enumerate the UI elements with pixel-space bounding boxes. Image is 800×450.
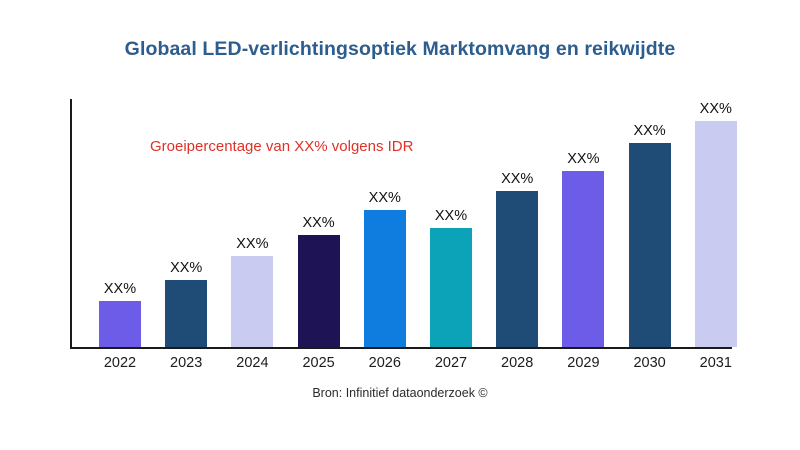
- x-tick-label: 2031: [676, 355, 756, 371]
- bar[interactable]: [562, 171, 604, 347]
- bar-group: XX%: [496, 191, 538, 347]
- bar-value-label: XX%: [86, 281, 154, 297]
- bar-value-label: XX%: [417, 208, 485, 224]
- bar-group: XX%: [364, 210, 406, 347]
- bar-value-label: XX%: [218, 236, 286, 252]
- bar[interactable]: [695, 121, 737, 347]
- bar[interactable]: [165, 280, 207, 347]
- bar-group: XX%: [629, 143, 671, 347]
- page-title: Globaal LED-verlichtingsoptiek Marktomva…: [0, 38, 800, 61]
- bar-group: XX%: [562, 171, 604, 347]
- bar-value-label: XX%: [483, 171, 551, 187]
- bar-group: XX%: [695, 121, 737, 347]
- bar-group: XX%: [165, 280, 207, 347]
- bar[interactable]: [629, 143, 671, 347]
- bar-value-label: XX%: [285, 215, 353, 231]
- chart-page: Globaal LED-verlichtingsoptiek Marktomva…: [0, 0, 800, 450]
- bar[interactable]: [99, 301, 141, 347]
- bar-group: XX%: [298, 235, 340, 347]
- bar[interactable]: [430, 228, 472, 347]
- bar-value-label: XX%: [616, 123, 684, 139]
- bar-value-label: XX%: [152, 260, 220, 276]
- bar[interactable]: [364, 210, 406, 347]
- bar[interactable]: [231, 256, 273, 347]
- bar-group: XX%: [430, 228, 472, 347]
- y-axis-line: [70, 99, 72, 349]
- bar-group: XX%: [99, 301, 141, 347]
- plot-area: XX%XX%XX%XX%XX%XX%XX%XX%XX%XX%: [70, 99, 732, 349]
- bar[interactable]: [496, 191, 538, 347]
- source-note: Bron: Infinitief dataonderzoek ©: [0, 386, 800, 400]
- bar-value-label: XX%: [351, 190, 419, 206]
- bar[interactable]: [298, 235, 340, 347]
- bar-group: XX%: [231, 256, 273, 347]
- bar-value-label: XX%: [549, 151, 617, 167]
- x-axis-line: [70, 347, 732, 349]
- bar-value-label: XX%: [682, 101, 750, 117]
